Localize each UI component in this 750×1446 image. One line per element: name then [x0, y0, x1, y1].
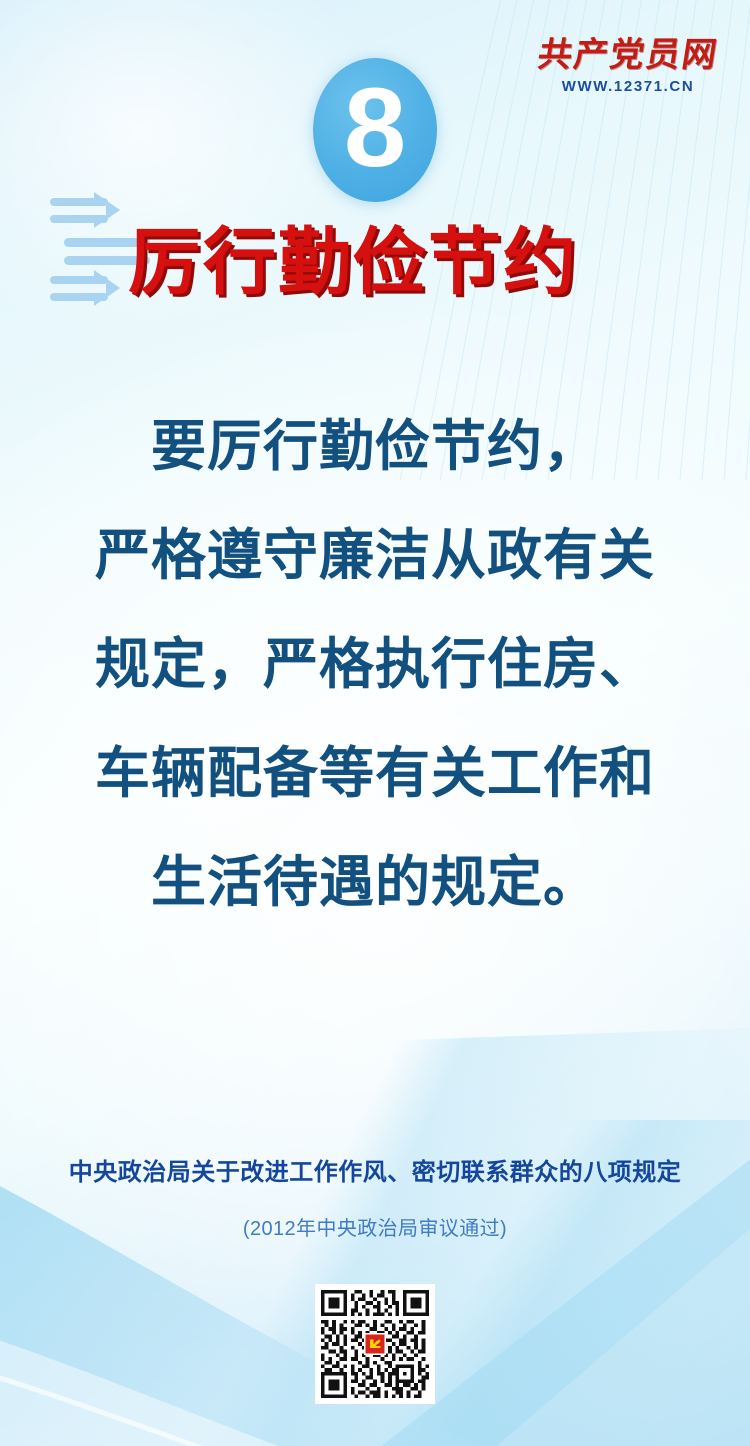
qr-code-image	[321, 1290, 429, 1398]
logo-mark-text: 共产党员网	[527, 38, 729, 74]
body-line: 要厉行勤俭节约，	[0, 392, 750, 501]
body-line: 车辆配备等有关工作和	[0, 719, 750, 828]
number-badge-value: 8	[344, 72, 406, 184]
body-line: 严格遵守廉洁从政有关	[0, 501, 750, 610]
footer-subtitle: (2012年中央政治局审议通过)	[0, 1212, 750, 1241]
number-badge: 8	[313, 58, 437, 202]
body-copy: 要厉行勤俭节约， 严格遵守廉洁从政有关 规定，严格执行住房、 车辆配备等有关工作…	[0, 392, 750, 937]
party-emblem-hammer-sickle-icon	[364, 1333, 386, 1355]
body-line: 规定，严格执行住房、	[0, 610, 750, 719]
body-line: 生活待遇的规定。	[0, 828, 750, 937]
site-logo[interactable]: 共产党员网 WWW.12371.CN	[530, 38, 726, 95]
poster-root: 共产党员网 WWW.12371.CN 8 厉行勤俭节约 要厉行勤俭节约， 严格遵…	[0, 0, 750, 1446]
page-title: 厉行勤俭节约	[128, 203, 578, 309]
background-wave-left-accent	[0, 1156, 580, 1446]
qr-code[interactable]	[315, 1284, 435, 1404]
logo-url-text: WWW.12371.CN	[530, 78, 726, 95]
footer-title: 中央政治局关于改进工作作风、密切联系群众的八项规定	[0, 1152, 750, 1187]
